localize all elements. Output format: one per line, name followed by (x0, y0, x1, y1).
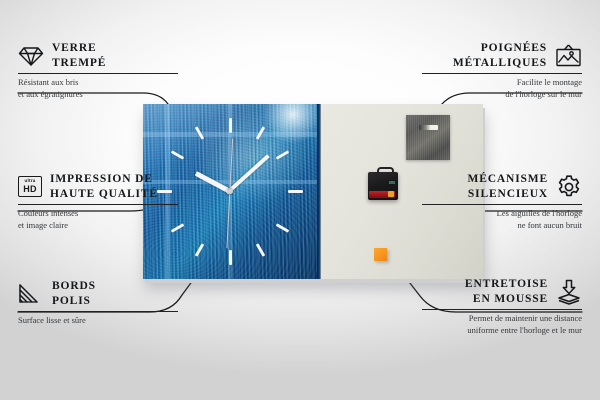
foam-spacer-icon (556, 279, 582, 305)
callout-rule (18, 311, 178, 312)
battery (369, 191, 395, 198)
callout-title: MÉCANISME SILENCIEUX (468, 172, 549, 201)
callout-header: POIGNÉES MÉTALLIQUES (422, 41, 582, 70)
callout-title: IMPRESSION DE HAUTE QUALITÉ (50, 172, 158, 201)
clock-mechanism (368, 172, 398, 200)
callout-description: Couleurs intenses et image claire (18, 208, 178, 231)
mechanism-chip (389, 181, 395, 184)
callout-description: Résistant aux bris et aux égratignures (18, 77, 178, 100)
callout-description: Facilite le montage de l'horloge sur le … (422, 77, 582, 100)
callout-rule (18, 204, 178, 205)
clock-tick (288, 190, 303, 193)
callout-description: Les aiguilles de l'horloge ne font aucun… (422, 208, 582, 231)
callout-rule (422, 204, 582, 205)
callout-title: POIGNÉES MÉTALLIQUES (453, 41, 547, 70)
ultra-hd-icon-main-text: HD (23, 185, 36, 194)
callout-description: Surface lisse et sûre (18, 315, 178, 327)
ultra-hd-icon: ultra HD (18, 176, 42, 197)
callout-header: BORDS POLIS (18, 279, 178, 308)
clock-tick (229, 118, 232, 133)
clock-tick (229, 250, 232, 265)
callout-rule (18, 73, 178, 74)
callout-header: VERRE TREMPÉ (18, 41, 178, 70)
callout-title: BORDS POLIS (52, 279, 96, 308)
callout-rule (422, 73, 582, 74)
callout-header: MÉCANISME SILENCIEUX (422, 172, 582, 201)
callout-rule (422, 309, 582, 310)
callout-verre-trempe: VERRE TREMPÉ Résistant aux bris et aux é… (18, 41, 178, 100)
mechanism-hook (377, 167, 394, 176)
gear-icon (556, 174, 582, 200)
hanger-slot (419, 125, 438, 130)
callout-entretoise-en-mousse: ENTRETOISE EN MOUSSE Permet de maintenir… (422, 277, 582, 336)
product-feature-infographic: VERRE TREMPÉ Résistant aux bris et aux é… (0, 0, 600, 400)
callout-description: Permet de maintenir une distance uniform… (422, 313, 582, 336)
callout-mecanisme-silencieux: MÉCANISME SILENCIEUX Les aiguilles de l'… (422, 172, 582, 231)
polished-edges-icon (18, 283, 44, 305)
clock-center-cap (228, 189, 233, 194)
hanger-grain (406, 115, 450, 160)
callout-impression-haute-qualite: ultra HD IMPRESSION DE HAUTE QUALITÉ Cou… (18, 172, 178, 231)
foam-spacer (374, 248, 387, 261)
callout-title: ENTRETOISE EN MOUSSE (465, 277, 548, 306)
callout-header: ENTRETOISE EN MOUSSE (422, 277, 582, 306)
diamond-icon (18, 45, 44, 67)
battery-positive-terminal (388, 191, 394, 197)
picture-frame-icon (555, 44, 582, 68)
callout-title: VERRE TREMPÉ (52, 41, 106, 70)
callout-poignees-metalliques: POIGNÉES MÉTALLIQUES Facilite le montage… (422, 41, 582, 100)
callout-bords-polis: BORDS POLIS Surface lisse et sûre (18, 279, 178, 327)
hanger-plate (406, 115, 450, 160)
callout-header: ultra HD IMPRESSION DE HAUTE QUALITÉ (18, 172, 178, 201)
